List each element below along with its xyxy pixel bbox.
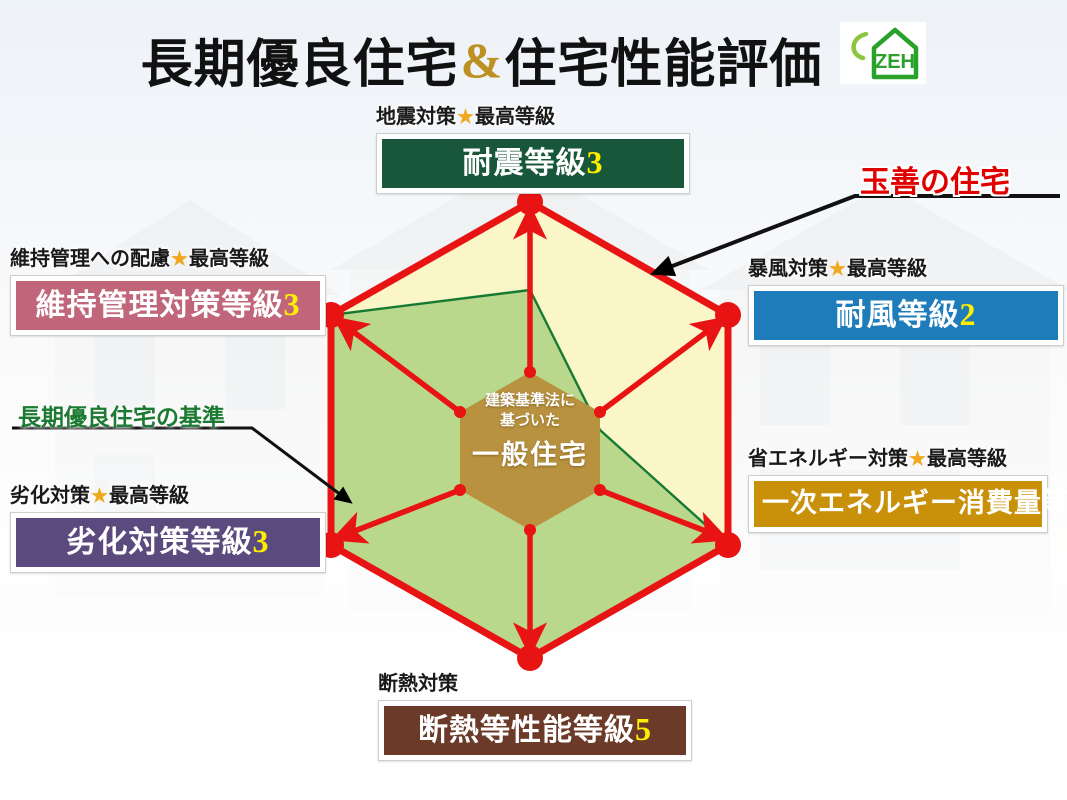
metric-degradation-caption: 劣化対策★最高等級 bbox=[10, 485, 326, 508]
star-icon: ★ bbox=[908, 449, 927, 470]
title-ampersand: & bbox=[459, 32, 505, 88]
metric-earthquake-label: 耐震等級 bbox=[463, 147, 587, 180]
metric-insulation-caption-before: 断熱対策 bbox=[378, 673, 458, 695]
metric-insulation-caption: 断熱対策 bbox=[378, 673, 692, 696]
title-part-1: 長期優良住宅 bbox=[141, 37, 459, 94]
metric-maintenance-caption: 維持管理への配慮★最高等級 bbox=[10, 248, 326, 271]
infographic-canvas: 長期優良住宅&住宅性能評価 ZEH bbox=[0, 0, 1067, 800]
metric-wind-caption-before: 暴風対策 bbox=[748, 258, 828, 280]
metric-degradation[interactable]: 劣化対策★最高等級 劣化対策等級3 bbox=[10, 485, 326, 573]
metric-maintenance-caption-after: 最高等級 bbox=[189, 248, 269, 270]
star-icon: ★ bbox=[456, 107, 475, 128]
metric-wind-box: 耐風等級2 bbox=[754, 291, 1058, 341]
metric-insulation-grade: 5 bbox=[635, 711, 652, 747]
metric-energy-frame: 一次エネルギー消費量等級6 bbox=[748, 475, 1048, 533]
star-icon: ★ bbox=[170, 249, 189, 270]
metric-earthquake-grade: 3 bbox=[587, 144, 604, 180]
metric-energy-caption-before: 省エネルギー対策 bbox=[748, 448, 908, 470]
metric-degradation-label: 劣化対策等級 bbox=[67, 526, 253, 559]
metric-maintenance-caption-before: 維持管理への配慮 bbox=[10, 248, 170, 270]
metric-energy-box: 一次エネルギー消費量等級6 bbox=[754, 481, 1042, 527]
annotation-company: 玉善の住宅 bbox=[860, 157, 1010, 201]
zeh-logo-text: ZEH bbox=[875, 51, 915, 73]
metric-wind[interactable]: 暴風対策★最高等級 耐風等級2 bbox=[748, 258, 1064, 346]
metric-earthquake-box: 耐震等級3 bbox=[382, 139, 684, 189]
star-icon: ★ bbox=[828, 259, 847, 280]
metric-insulation-box: 断熱等性能等級5 bbox=[384, 706, 686, 756]
metric-degradation-box: 劣化対策等級3 bbox=[16, 518, 320, 568]
annotation-standard: 長期優良住宅の基準 bbox=[18, 398, 225, 432]
metric-earthquake[interactable]: 地震対策★最高等級 耐震等級3 bbox=[376, 106, 690, 194]
metric-maintenance-label: 維持管理対策等級 bbox=[36, 289, 284, 322]
metric-wind-grade: 2 bbox=[960, 296, 977, 332]
metric-maintenance[interactable]: 維持管理への配慮★最高等級 維持管理対策等級3 bbox=[10, 248, 326, 336]
metric-wind-caption: 暴風対策★最高等級 bbox=[748, 258, 1064, 281]
metric-earthquake-caption-after: 最高等級 bbox=[475, 106, 555, 128]
metric-energy-caption: 省エネルギー対策★最高等級 bbox=[748, 448, 1048, 471]
metric-degradation-caption-after: 最高等級 bbox=[109, 485, 189, 507]
metric-wind-label: 耐風等級 bbox=[836, 299, 960, 332]
metric-insulation[interactable]: 断熱対策 断熱等性能等級5 bbox=[378, 673, 692, 761]
zeh-logo-svg: ZEH bbox=[840, 22, 926, 84]
star-icon: ★ bbox=[90, 486, 109, 507]
metric-earthquake-caption-before: 地震対策 bbox=[376, 106, 456, 128]
metric-energy[interactable]: 省エネルギー対策★最高等級 一次エネルギー消費量等級6 bbox=[748, 448, 1048, 533]
metric-energy-caption-after: 最高等級 bbox=[927, 448, 1007, 470]
star-icon bbox=[458, 674, 460, 695]
metric-wind-frame: 耐風等級2 bbox=[748, 285, 1064, 347]
metric-earthquake-caption: 地震対策★最高等級 bbox=[376, 106, 690, 129]
metric-earthquake-frame: 耐震等級3 bbox=[376, 133, 690, 195]
metric-degradation-grade: 3 bbox=[253, 523, 270, 559]
metric-degradation-caption-before: 劣化対策 bbox=[10, 485, 90, 507]
zeh-logo: ZEH bbox=[840, 22, 926, 89]
annotation-company-text: 玉善の住宅 bbox=[860, 166, 1010, 199]
annotation-standard-text: 長期優良住宅の基準 bbox=[18, 405, 225, 430]
metric-maintenance-grade: 3 bbox=[284, 286, 301, 322]
page-title: 長期優良住宅&住宅性能評価 ZEH bbox=[0, 22, 1067, 97]
metric-maintenance-box: 維持管理対策等級3 bbox=[16, 281, 320, 331]
metric-degradation-frame: 劣化対策等級3 bbox=[10, 512, 326, 574]
metric-insulation-frame: 断熱等性能等級5 bbox=[378, 700, 692, 762]
title-part-2: 住宅性能評価 bbox=[504, 37, 822, 94]
metric-maintenance-frame: 維持管理対策等級3 bbox=[10, 275, 326, 337]
metric-insulation-label: 断熱等性能等級 bbox=[418, 714, 635, 747]
metric-wind-caption-after: 最高等級 bbox=[847, 258, 927, 280]
metric-energy-label: 一次エネルギー消費量等級 bbox=[762, 488, 1067, 518]
